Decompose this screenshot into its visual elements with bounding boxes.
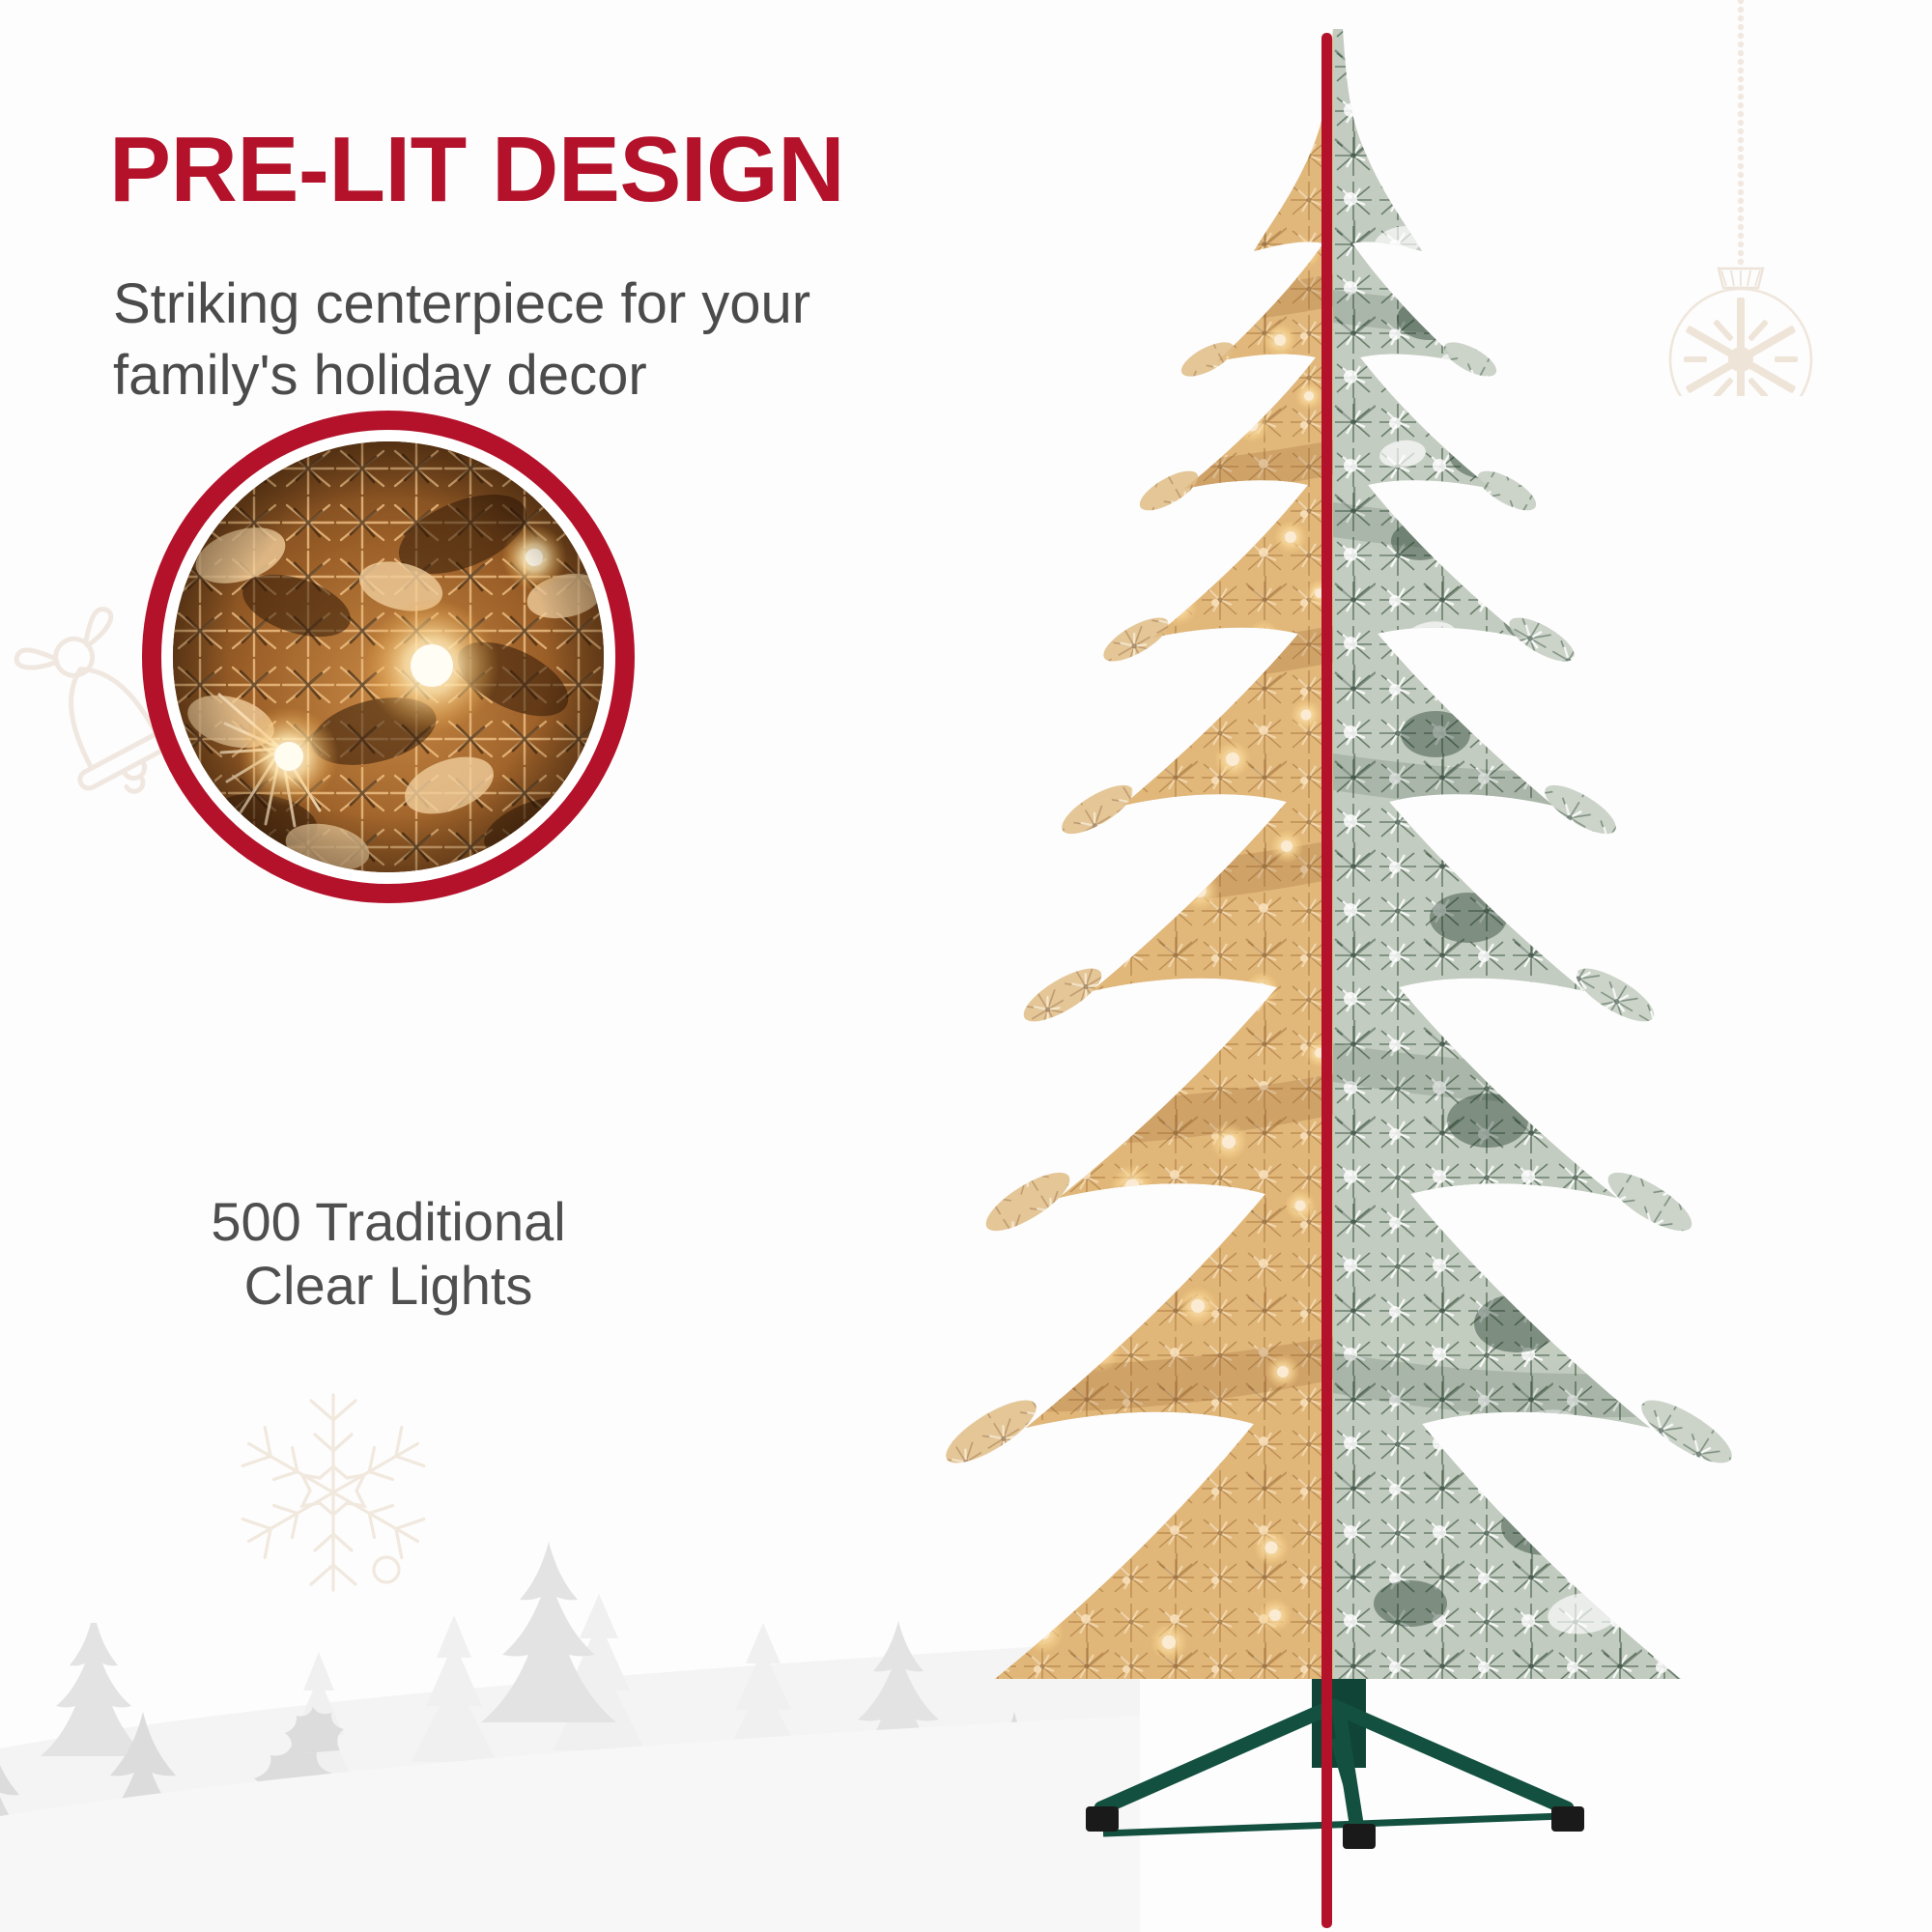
product-feature-canvas: PRE-LIT DESIGN Striking centerpiece for … [0, 0, 1932, 1932]
inset-caption: 500 Traditional Clear Lights [132, 1190, 644, 1318]
feature-inset-circle [142, 411, 635, 903]
lit-branch-closeup-photo [173, 441, 604, 872]
subtitle: Striking centerpiece for your family's h… [113, 269, 847, 411]
page-title: PRE-LIT DESIGN [109, 124, 844, 216]
subtitle-line-1: Striking centerpiece for your [113, 269, 847, 340]
product-photo-christmas-tree [753, 0, 1932, 1932]
lit-unlit-split-divider [1321, 33, 1332, 1928]
snowflake-icon [222, 1381, 444, 1604]
subtitle-line-2: family's holiday decor [113, 340, 847, 412]
inset-caption-line-1: 500 Traditional [132, 1190, 644, 1254]
inset-caption-line-2: Clear Lights [132, 1254, 644, 1318]
